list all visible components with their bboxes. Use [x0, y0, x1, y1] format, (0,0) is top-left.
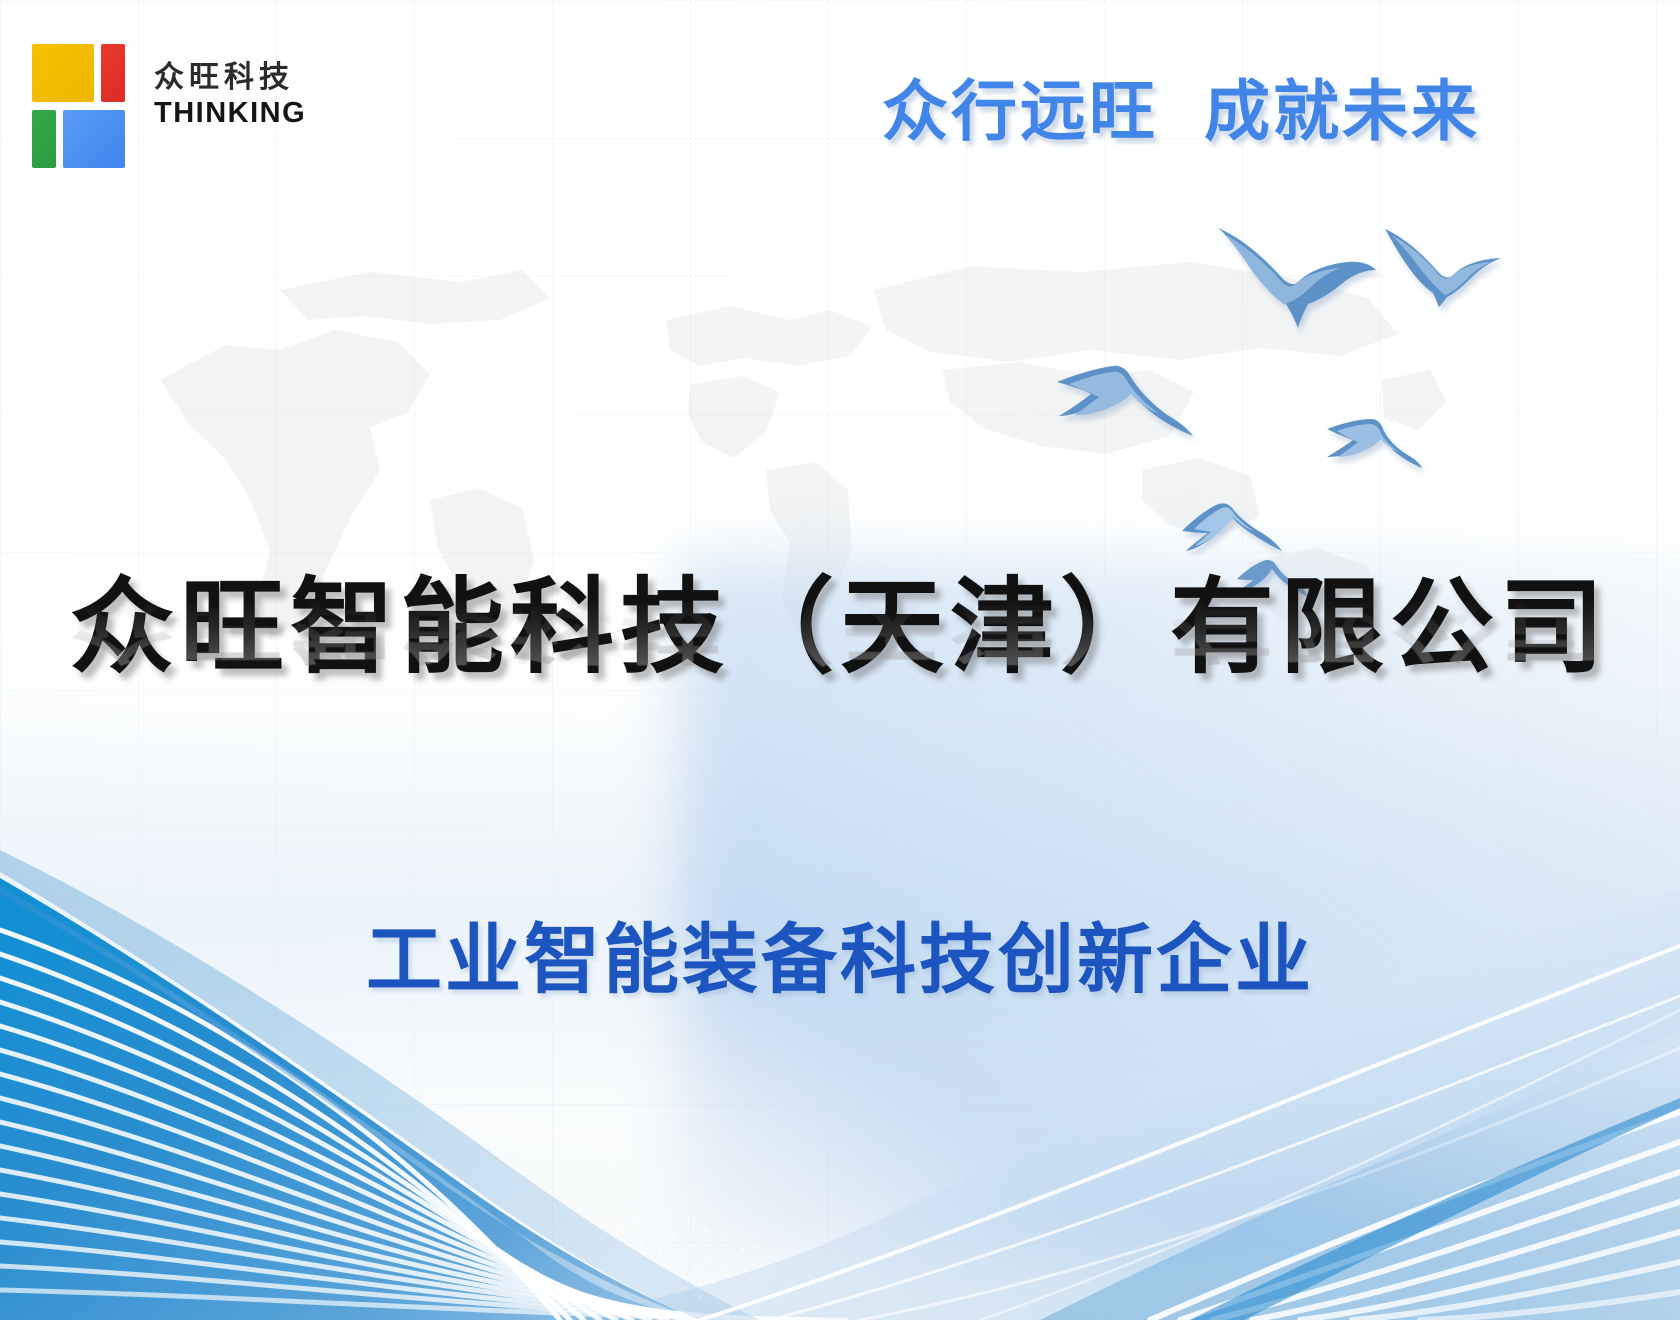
- page-title-reflection: 众旺智能科技（天津）有限公司: [0, 585, 1680, 669]
- logo-square-yellow: [32, 44, 94, 102]
- page-subtitle: 工业智能装备科技创新企业: [0, 898, 1680, 1008]
- logo-square-green: [32, 110, 56, 168]
- presentation-title-slide: 众旺科技 THINKING 众行远旺成就未来 众旺智能科技（天津）有限公司 众旺…: [0, 0, 1680, 1320]
- title-block: 众旺智能科技（天津）有限公司 众旺智能科技（天津）有限公司: [0, 570, 1680, 785]
- logo-company-cn: 众旺科技: [154, 61, 306, 94]
- logo-wordmark: 众旺科技 THINKING: [154, 53, 306, 128]
- slogan-part-1: 众行远旺: [882, 74, 1158, 148]
- logo-square-red: [101, 44, 125, 102]
- header-slogan: 众行远旺成就未来: [882, 58, 1480, 154]
- logo-company-en: THINKING: [154, 98, 306, 128]
- logo-square-blue: [63, 110, 125, 168]
- company-logo[interactable]: 众旺科技 THINKING: [32, 30, 306, 152]
- four-square-logo-mark-icon: [32, 30, 136, 152]
- slogan-part-2: 成就未来: [1204, 74, 1480, 148]
